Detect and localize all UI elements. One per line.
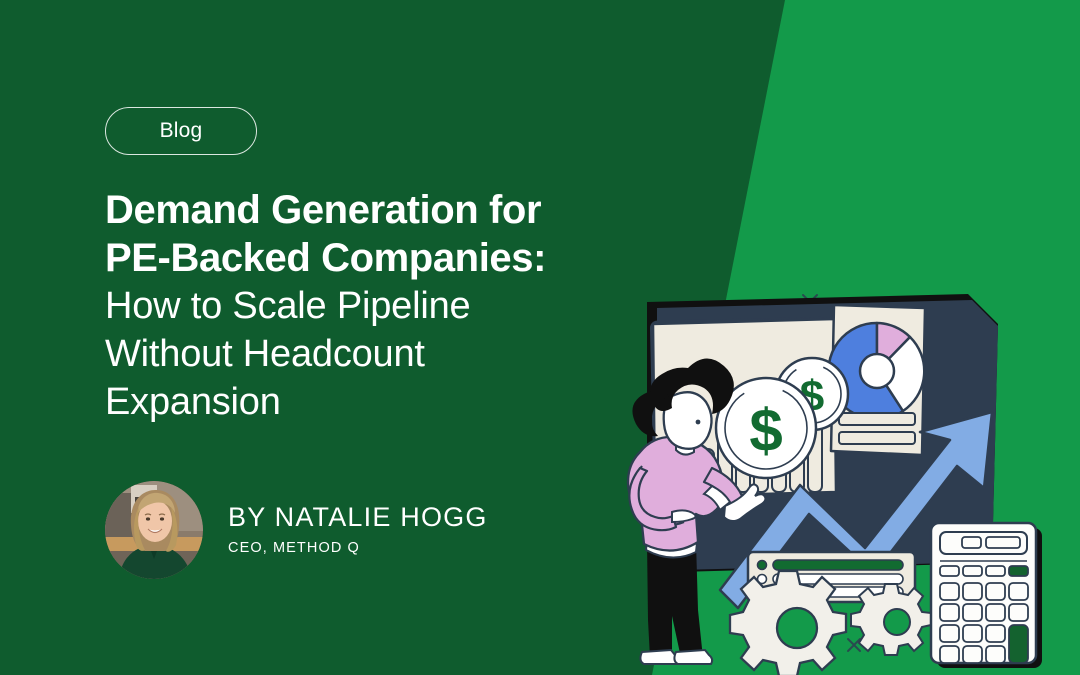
byline: BY NATALIE HOGG CEO, METHOD Q bbox=[105, 478, 665, 582]
promo-canvas: Blog Demand Generation for PE-Backed Com… bbox=[0, 0, 1080, 675]
calculator bbox=[931, 523, 1042, 668]
title-line-4: Without Headcount bbox=[105, 330, 665, 378]
title-line-5: Expansion bbox=[105, 378, 665, 426]
content-column: Blog Demand Generation for PE-Backed Com… bbox=[105, 0, 665, 675]
title-line-1: Demand Generation for bbox=[105, 186, 665, 234]
gear-small bbox=[851, 584, 931, 655]
category-badge-label: Blog bbox=[160, 119, 203, 143]
svg-text:$: $ bbox=[749, 397, 782, 464]
byline-text: BY NATALIE HOGG CEO, METHOD Q bbox=[228, 501, 488, 559]
title-line-3: How to Scale Pipeline bbox=[105, 282, 665, 330]
page-title: Demand Generation for PE-Backed Companie… bbox=[105, 186, 665, 426]
title-line-2: PE-Backed Companies: bbox=[105, 234, 665, 282]
gear-large bbox=[730, 571, 846, 675]
sparkle-bottom-icon bbox=[848, 639, 860, 651]
hero-illustration: $ $ bbox=[620, 280, 1080, 675]
avatar bbox=[105, 481, 203, 579]
author-role: CEO, METHOD Q bbox=[228, 537, 488, 559]
category-badge[interactable]: Blog bbox=[105, 107, 257, 155]
author-name: BY NATALIE HOGG bbox=[228, 501, 488, 533]
